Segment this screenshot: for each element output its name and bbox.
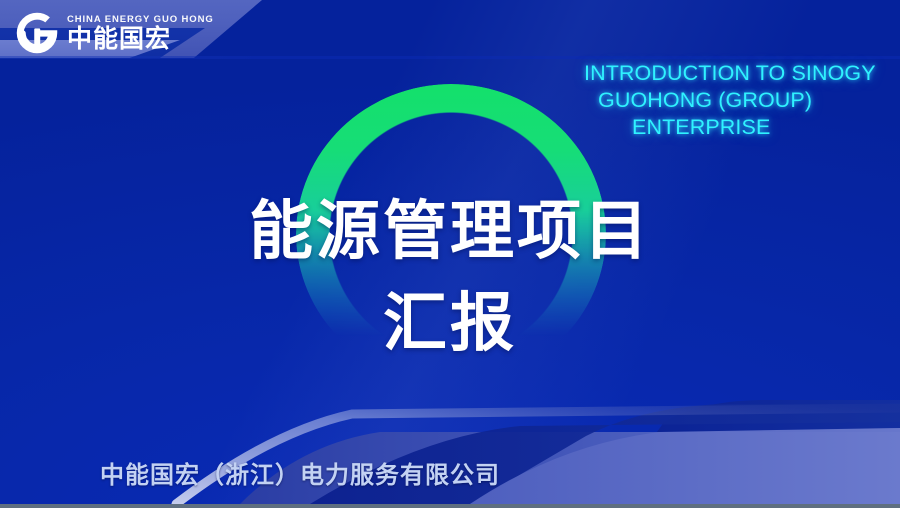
circular-g-logo-icon	[14, 10, 60, 56]
logo-text-block: CHINA ENERGY GUO HONG 中能国宏	[67, 15, 214, 52]
english-heading-line-1: INTRODUCTION TO SINOGY	[584, 60, 900, 87]
header-divider-strip	[0, 56, 900, 59]
english-heading: INTRODUCTION TO SINOGY GUOHONG (GROUP) E…	[584, 60, 900, 141]
presentation-title-slide: CHINA ENERGY GUO HONG 中能国宏 INTRODUCTION …	[0, 0, 900, 508]
page-title-line-1: 能源管理项目	[0, 186, 900, 278]
footer-company-name: 中能国宏（浙江）电力服务有限公司	[100, 455, 500, 490]
logo-chinese-name: 中能国宏	[67, 26, 214, 52]
logo-english-name: CHINA ENERGY GUO HONG	[67, 15, 214, 25]
company-logo: CHINA ENERGY GUO HONG 中能国宏	[14, 10, 214, 56]
english-heading-line-3: ENTERPRISE	[632, 114, 900, 141]
page-title: 能源管理项目 汇报	[0, 186, 900, 370]
page-title-line-2: 汇报	[0, 278, 900, 370]
english-heading-line-2: GUOHONG (GROUP)	[598, 87, 900, 114]
